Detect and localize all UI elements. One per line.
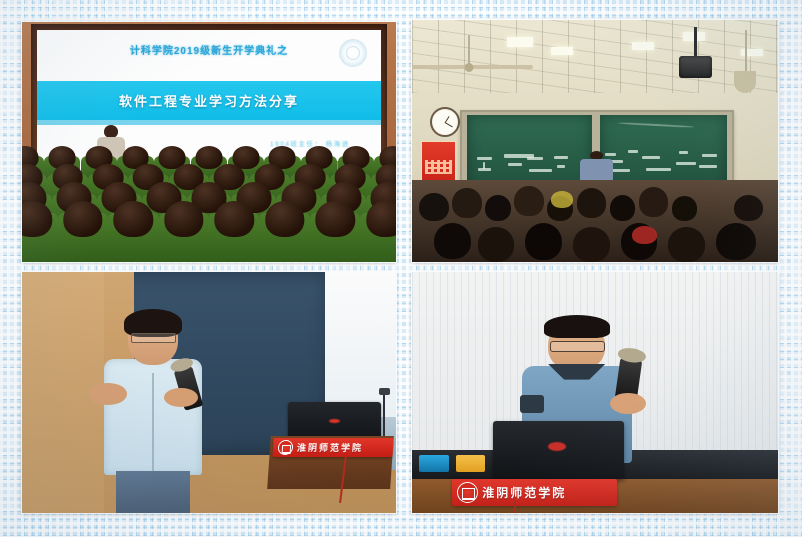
photo-auditorium-ceremony: 计科学院2019级新生开学典礼之 软件工程专业学习方法分享 1904班主任： 杨…: [22, 22, 396, 262]
podium-banner: 淮阴师范学院: [452, 479, 617, 506]
ceiling-light-icon: [507, 37, 533, 47]
podium-banner-text: 淮阴师范学院: [296, 441, 363, 454]
audience-seat: [22, 214, 58, 262]
audience-seat: [259, 214, 309, 262]
audience-seating: [22, 156, 396, 262]
audience-seat: [159, 214, 209, 262]
cable: [514, 501, 516, 513]
ceiling-projector-icon: [679, 27, 712, 78]
slide-title: 计科学院2019级新生开学典礼之: [37, 42, 380, 57]
pendant-lamp-icon: [734, 30, 756, 93]
audience-seat: [58, 214, 108, 262]
presenter-figure: [104, 313, 201, 513]
podium-banner-text: 淮阴师范学院: [482, 484, 566, 501]
audience-seat: [108, 214, 158, 262]
presenter-mic-hand: [164, 388, 198, 407]
student-audience: [412, 180, 778, 262]
presenter-gesturing-hand: [89, 383, 126, 405]
university-seal-icon: [277, 440, 293, 455]
podium-banner: 淮阴师范学院: [272, 438, 393, 457]
audience-seat: [310, 214, 360, 262]
photo-collage: 计科学院2019级新生开学典礼之 软件工程专业学习方法分享 1904班主任： 杨…: [0, 0, 802, 537]
slide-accent-band-secondary: [37, 120, 380, 126]
screen-bright-area: [325, 272, 396, 417]
ceiling-fan-icon: [460, 35, 478, 88]
ceiling-light-icon: [632, 42, 654, 50]
university-seal-icon: [339, 39, 367, 67]
photo-classroom-lecture: [412, 20, 778, 262]
university-seal-icon: [457, 482, 478, 503]
lecturer-figure: [580, 151, 613, 182]
slide-headline: 软件工程专业学习方法分享: [37, 91, 380, 110]
presenter-mic-hand: [610, 393, 647, 415]
audience-seat: [209, 214, 259, 262]
laptop: [493, 421, 625, 479]
audience-seat: [360, 214, 396, 262]
photo-presenter-left: 淮阴师范学院: [22, 272, 396, 513]
folder-icon: [456, 455, 485, 472]
ceiling-light-icon: [551, 47, 573, 55]
photo-presenter-right: 淮阴师范学院: [412, 272, 778, 513]
desktop-icon: [419, 455, 448, 472]
